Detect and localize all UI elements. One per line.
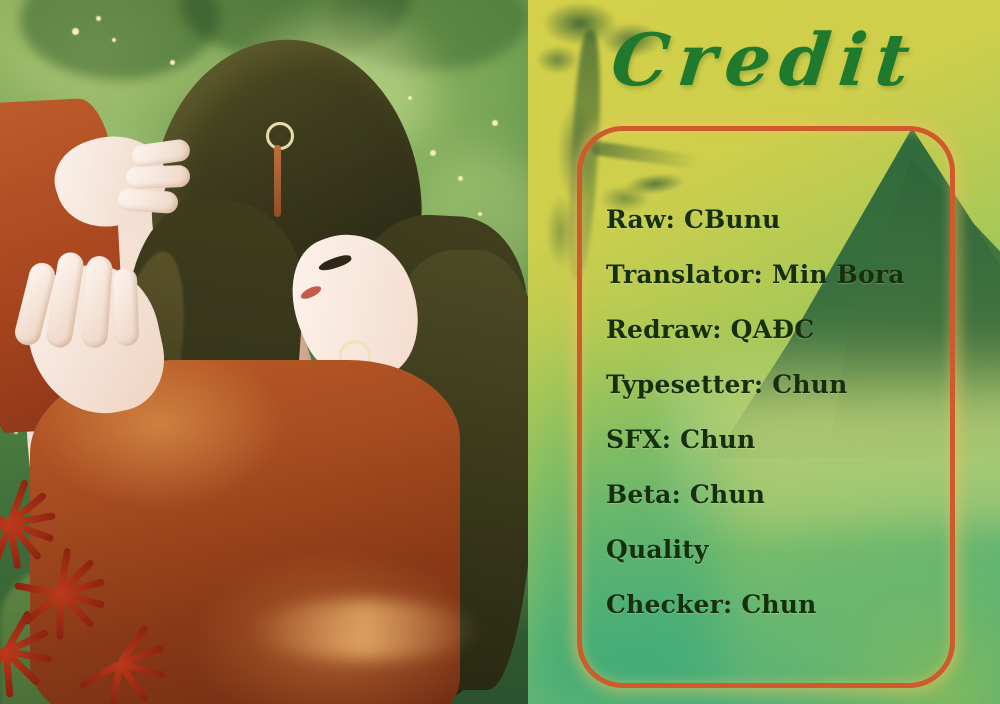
- credit-list: Raw: CBunu Translator: Min Bora Redraw: …: [606, 192, 936, 632]
- finger: [126, 165, 191, 189]
- sparkle: [170, 60, 175, 65]
- credit-line-quality: Quality: [606, 522, 936, 577]
- credits-page: Credit Raw: CBunu Translator: Min Bora R…: [0, 0, 1000, 704]
- sparkle: [492, 120, 498, 126]
- credit-line-beta: Beta: Chun: [606, 467, 936, 522]
- credit-line-redraw: Redraw: QAĐC: [606, 302, 936, 357]
- finger: [113, 268, 140, 347]
- illustration-panel: [0, 0, 528, 704]
- sparkle: [458, 176, 463, 181]
- credit-line-sfx: SFX: Chun: [606, 412, 936, 467]
- earring-tassel: [274, 145, 281, 217]
- credit-line-raw: Raw: CBunu: [606, 192, 936, 247]
- page-title: Credit: [608, 18, 957, 102]
- robe-highlight: [250, 600, 480, 660]
- sparkle: [112, 38, 116, 42]
- finger: [117, 188, 178, 214]
- sparkle: [430, 150, 436, 156]
- sparkle: [72, 28, 79, 35]
- credit-line-typesetter: Typesetter: Chun: [606, 357, 936, 412]
- credit-line-checker: Checker: Chun: [606, 577, 936, 632]
- sparkle: [408, 96, 412, 100]
- sparkle: [96, 16, 101, 21]
- sparkle: [478, 212, 482, 216]
- credit-line-translator: Translator: Min Bora: [606, 247, 936, 302]
